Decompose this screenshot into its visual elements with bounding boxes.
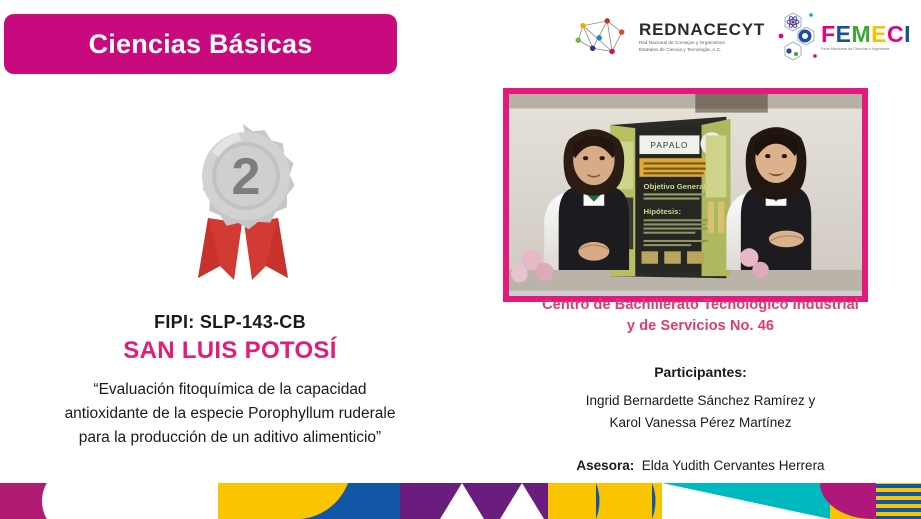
category-label: Ciencias Básicas: [89, 29, 313, 60]
project-title-line: para la producción de un aditivo aliment…: [28, 426, 432, 450]
decor-yellow-block-2: [548, 483, 658, 519]
advisor-line: Asesora: Elda Yudith Cervantes Herrera: [480, 458, 921, 473]
participants-label: Participantes:: [480, 364, 921, 380]
medal-disc: 2: [202, 124, 295, 229]
project-photo: PAPALO Objetivo General: Hipótesis:: [509, 94, 862, 291]
poster-section-label: Hipótesis:: [644, 207, 681, 216]
participant-name: Karol Vanessa Pérez Martínez: [480, 412, 921, 434]
rednacecyt-logo: REDNACECYT Red Nacional de Consejos y Or…: [575, 16, 765, 58]
project-photo-frame: PAPALO Objetivo General: Hipótesis:: [503, 88, 868, 302]
rednacecyt-name: REDNACECYT: [639, 21, 765, 38]
femeci-letter: M: [851, 23, 871, 46]
poster-brand: PAPALO: [650, 141, 688, 150]
femeci-letter: F: [821, 23, 836, 46]
femeci-letter: E: [836, 23, 852, 46]
medal-place-number: 2: [232, 148, 261, 206]
project-title-line: antioxidante de la especie Porophyllum r…: [28, 402, 432, 426]
poster-section-label: Objetivo General:: [644, 182, 709, 191]
state-name: SAN LUIS POTOSÍ: [0, 337, 460, 365]
advisor-name: Elda Yudith Cervantes Herrera: [642, 458, 825, 473]
decor-blue-block: [348, 483, 400, 519]
school-name-line: y de Servicios No. 46: [480, 316, 921, 337]
fipi-code: FIPI: SLP-143-CB: [0, 312, 460, 333]
advisor-label: Asesora:: [576, 458, 634, 473]
project-title: “Evaluación fitoquímica de la capacidad …: [28, 378, 432, 450]
school-name: Centro de Bachillerato Tecnológico Indus…: [480, 295, 921, 337]
bottom-decor-strip: [0, 483, 921, 519]
category-header-pill: Ciencias Básicas: [4, 14, 397, 74]
decor-white-circle: [42, 483, 114, 519]
hexagon-atom-icon: [775, 11, 819, 63]
participants-names: Ingrid Bernardette Sánchez Ramírez y Kar…: [480, 390, 921, 433]
slide-root: Ciencias Básicas: [0, 0, 921, 519]
school-name-line: Centro de Bachillerato Tecnológico Indus…: [480, 295, 921, 316]
femeci-letter: C: [887, 23, 904, 46]
femeci-letter: I: [904, 23, 911, 46]
femeci-wordmark: FEMECI: [821, 23, 911, 46]
femeci-logo: FEMECI Feria Mexicana de Ciencias e Inge…: [775, 11, 911, 63]
femeci-subtitle: Feria Mexicana de Ciencias e Ingeniería: [821, 48, 911, 52]
medal-ribbons: [198, 218, 288, 280]
logo-bar: REDNACECYT Red Nacional de Consejos y Or…: [575, 8, 911, 66]
network-nodes-icon: [575, 16, 633, 58]
participant-name: Ingrid Bernardette Sánchez Ramírez y: [480, 390, 921, 412]
project-title-line: “Evaluación fitoquímica de la capacidad: [28, 378, 432, 402]
silver-medal-icon: 2: [168, 118, 318, 288]
femeci-letter: E: [871, 23, 887, 46]
rednacecyt-subtitle: Red Nacional de Consejos y Organismos Es…: [639, 40, 725, 53]
